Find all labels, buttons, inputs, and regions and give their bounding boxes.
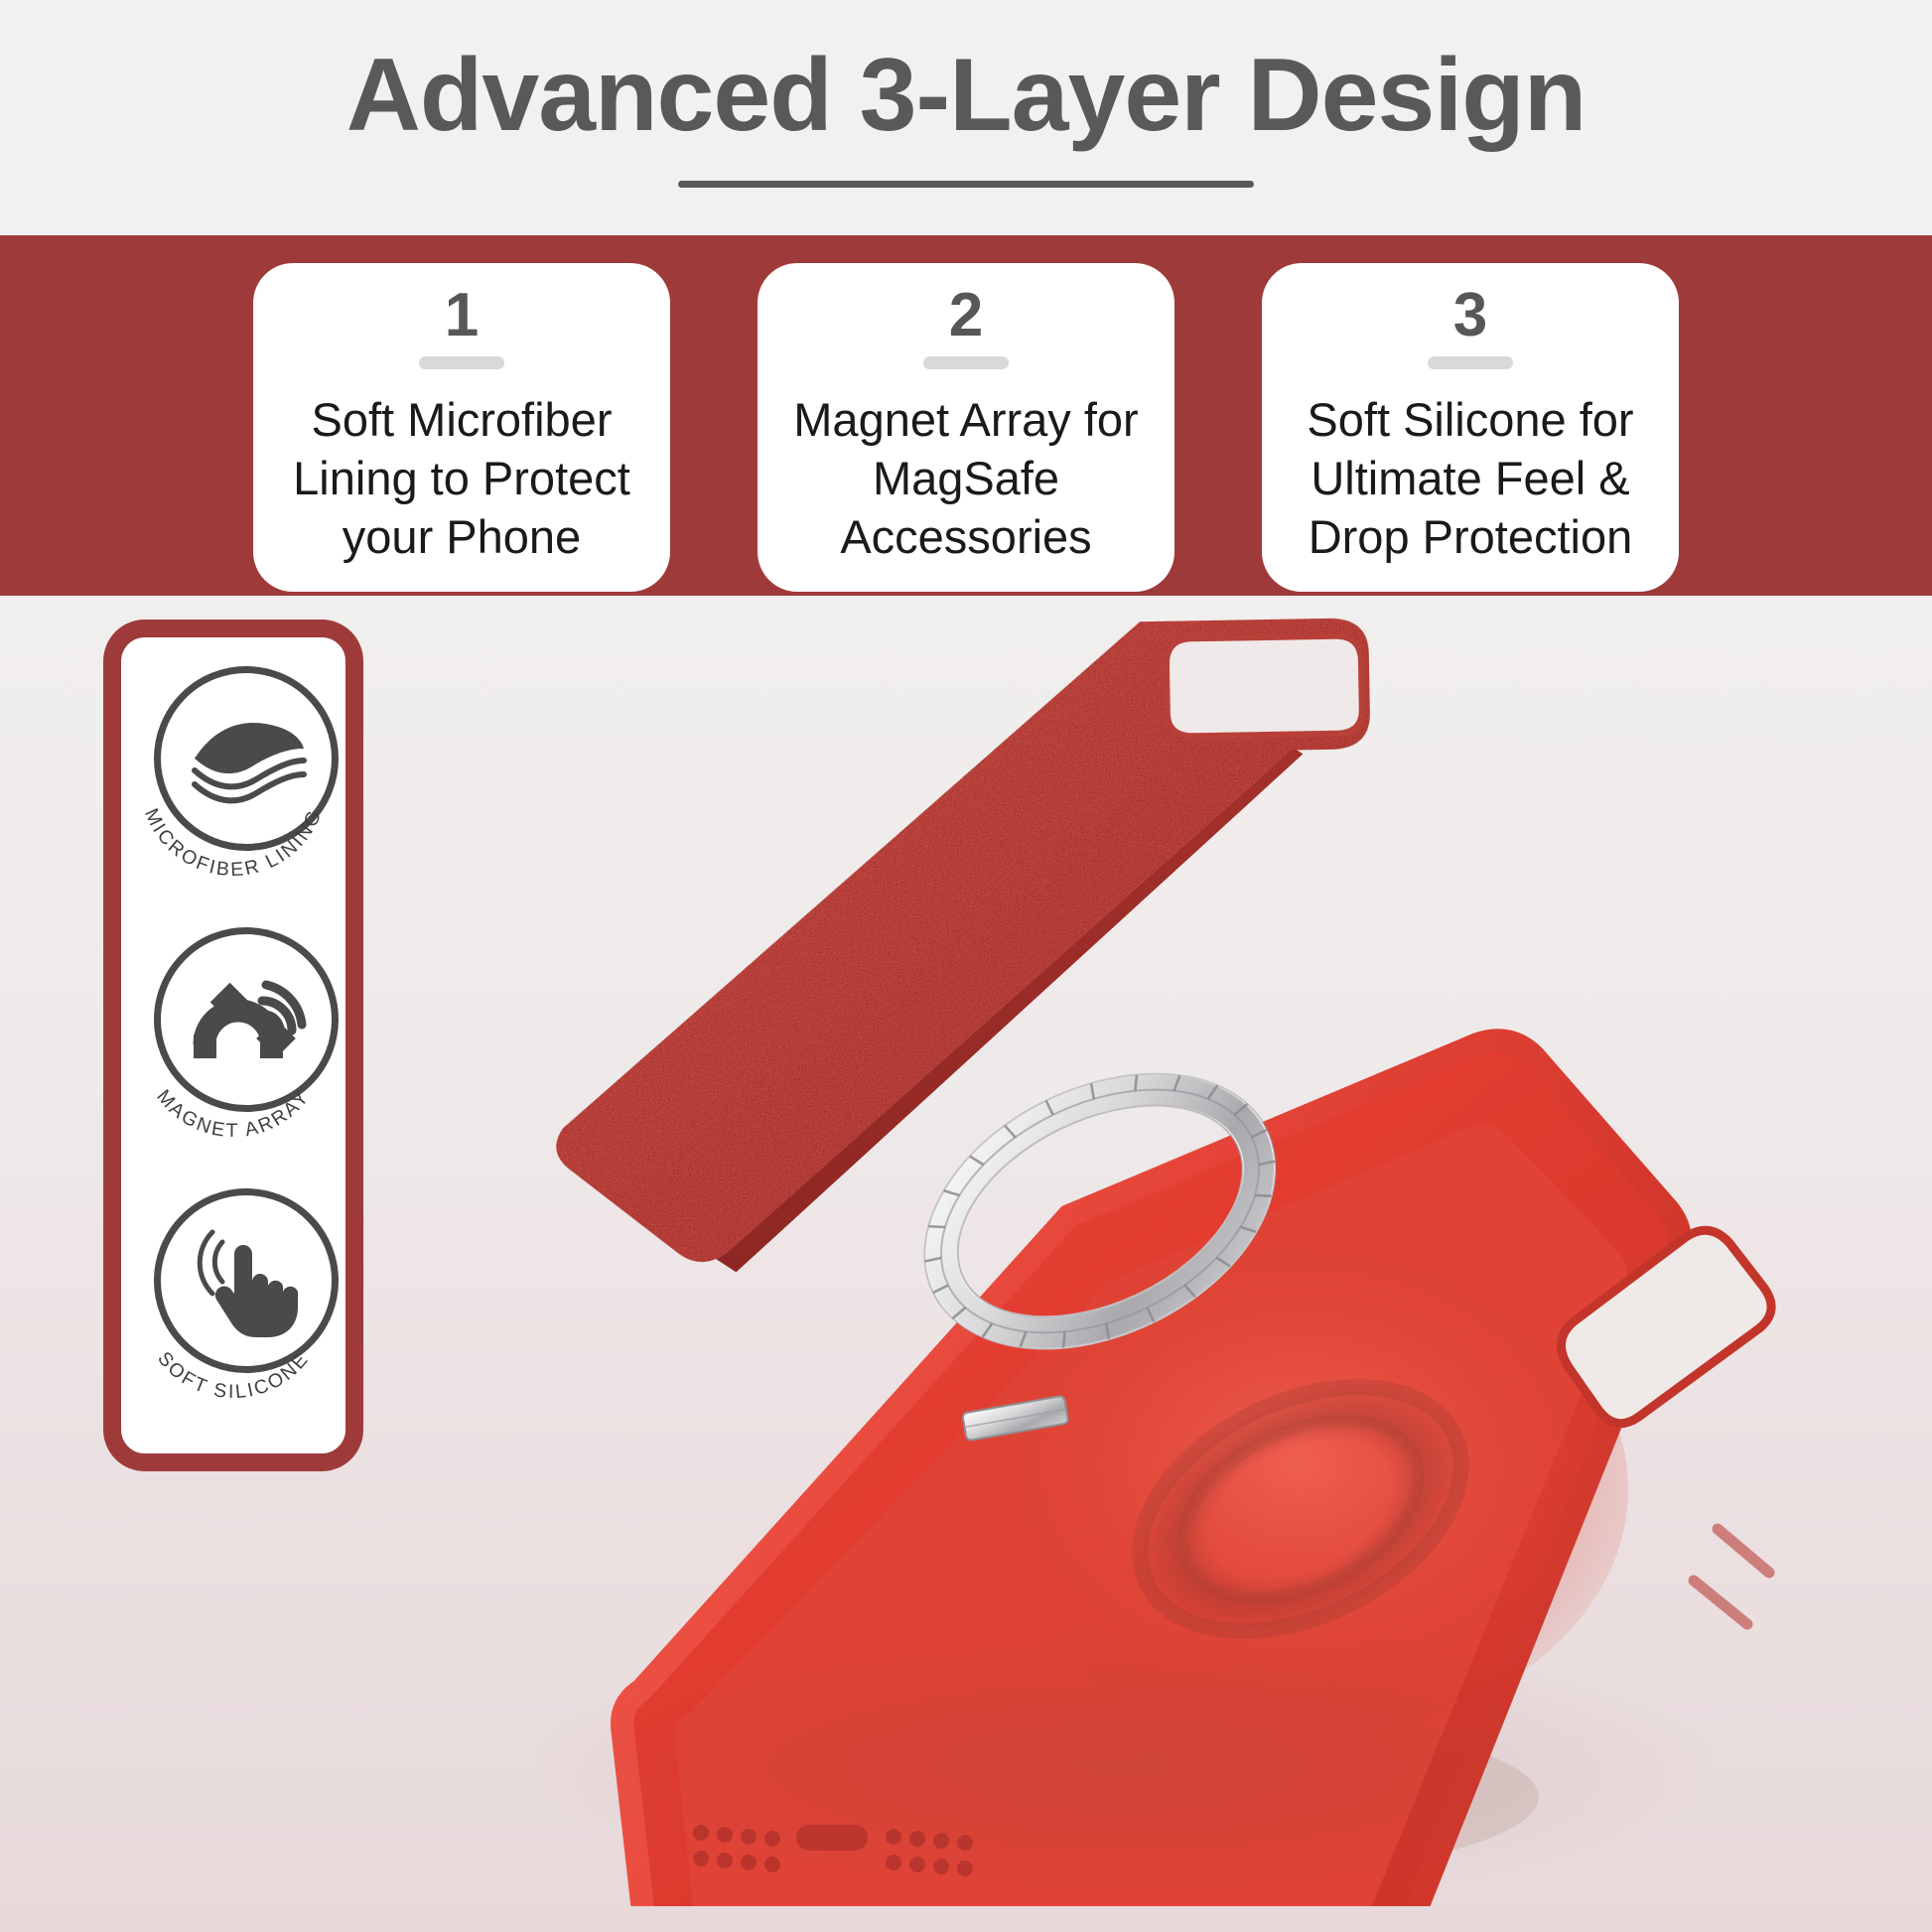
svg-text:MAGNET ARRAY: MAGNET ARRAY [152,1085,314,1142]
feature-number: 2 [949,285,983,346]
feature-number: 3 [1453,285,1487,346]
svg-text:SOFT SILICONE: SOFT SILICONE [153,1348,314,1404]
svg-text:MICROFIBER LINING: MICROFIBER LINING [140,805,327,881]
badge-label-arc: MICROFIBER LINING [134,660,333,908]
side-button-ridges [1694,1529,1769,1624]
infographic-canvas: Advanced 3-Layer Design 1 Soft Microfibe… [0,0,1932,1932]
header-section: Advanced 3-Layer Design [0,0,1932,235]
product-exploded-view [427,516,1866,1906]
badge-magnet-array: MAGNET ARRAY [134,921,333,1170]
charging-port-cutout [796,1825,868,1851]
feature-divider [1428,356,1513,369]
badge-panel: MICROFIBER LINING [103,620,363,1471]
badge-soft-silicone: SOFT SILICONE [134,1182,333,1431]
badge-label-arc: MAGNET ARRAY [134,921,333,1170]
badge-label: SOFT SILICONE [153,1348,314,1404]
microfiber-camera-cutout [1167,635,1363,736]
feature-number: 1 [445,285,479,346]
title-underline [678,181,1254,188]
feature-divider [419,356,504,369]
page-title: Advanced 3-Layer Design [0,40,1932,151]
badge-label: MICROFIBER LINING [140,805,327,881]
badge-microfiber-lining: MICROFIBER LINING [134,660,333,908]
badge-label-arc: SOFT SILICONE [134,1182,333,1431]
badge-label: MAGNET ARRAY [152,1085,314,1142]
feature-divider [923,356,1009,369]
